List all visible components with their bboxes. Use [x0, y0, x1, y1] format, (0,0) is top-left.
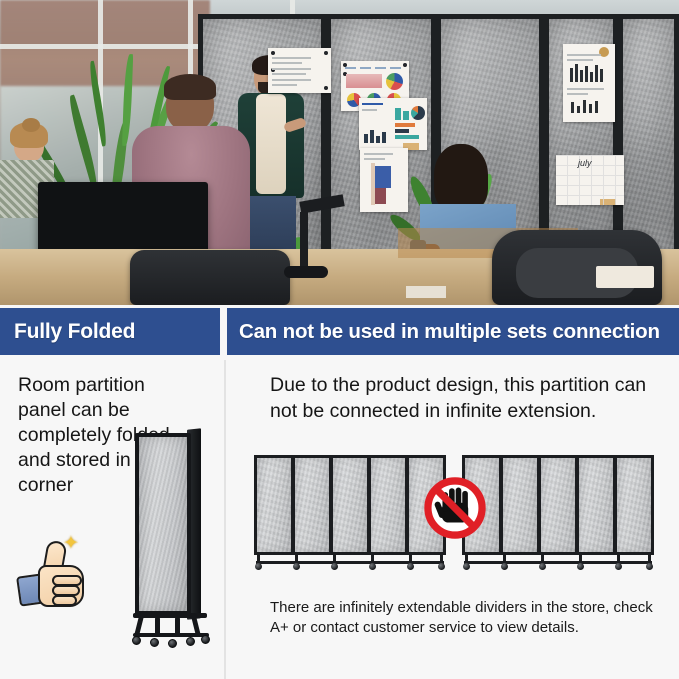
stand-pole — [300, 212, 308, 270]
divider-panel — [254, 455, 294, 555]
divider-panel — [368, 455, 408, 555]
office-chair-front — [130, 250, 290, 305]
caster-wheel — [501, 563, 508, 570]
left-column: Room partition panel can be completely f… — [0, 355, 224, 679]
caster-wheel — [201, 635, 210, 644]
no-hand-prohibited-icon — [422, 475, 488, 541]
divider-panel — [330, 455, 370, 555]
hair — [164, 74, 216, 100]
panel-fabric-face — [135, 433, 191, 615]
divider-panel — [538, 455, 578, 555]
divider-sets-illustration — [254, 455, 654, 577]
divider-panel — [576, 455, 616, 555]
poster-dashboard — [359, 98, 427, 150]
divider-panel — [500, 455, 540, 555]
caster-wheel — [186, 637, 195, 646]
caster-wheel — [463, 563, 470, 570]
product-infographic: july — [0, 0, 679, 679]
bottom-content: Room partition panel can be completely f… — [0, 355, 679, 679]
caster-wheel — [132, 636, 141, 645]
folded-panel-illustration — [127, 433, 211, 648]
sweater — [256, 94, 286, 194]
notebook — [406, 286, 446, 298]
caster-wheel — [369, 563, 376, 570]
right-body-text: Due to the product design, this partitio… — [270, 372, 662, 424]
caster-wheel — [438, 563, 445, 570]
hair-bun — [22, 118, 40, 132]
caster-wheel — [168, 639, 177, 648]
divider-panel — [292, 455, 332, 555]
header-bar-left: Fully Folded — [0, 308, 220, 355]
tape-dot — [599, 47, 609, 57]
divider-set-right — [462, 455, 654, 571]
office-photo: july — [0, 0, 679, 305]
divider-panel — [614, 455, 654, 555]
caster-wheel — [255, 563, 262, 570]
papers — [596, 266, 654, 288]
caster-wheel — [539, 563, 546, 570]
caster-wheel — [150, 638, 159, 647]
computer-monitor — [38, 182, 208, 254]
caster-wheel — [293, 563, 300, 570]
panel-wheel-base — [131, 609, 211, 649]
header-title-left: Fully Folded — [0, 320, 135, 344]
caster-wheel — [407, 563, 414, 570]
poster-data-sheet — [563, 44, 615, 122]
caster-wheel — [615, 563, 622, 570]
poster-document — [268, 48, 331, 93]
divider-set-left — [254, 455, 446, 571]
hair — [434, 144, 488, 212]
right-footer-text: There are infinitely extendable dividers… — [270, 598, 670, 638]
header-bar-right: Can not be used in multiple sets connect… — [227, 308, 679, 355]
thumbs-up-icon: ✦ — [18, 535, 102, 611]
caster-wheel — [646, 563, 653, 570]
poster-calendar: july — [556, 155, 624, 205]
caster-wheel — [331, 563, 338, 570]
poster-funnel-chart — [360, 148, 408, 212]
right-column: Due to the product design, this partitio… — [226, 355, 679, 679]
caster-wheel — [577, 563, 584, 570]
stand-base — [284, 266, 328, 278]
header-title-right: Can not be used in multiple sets connect… — [227, 320, 660, 344]
